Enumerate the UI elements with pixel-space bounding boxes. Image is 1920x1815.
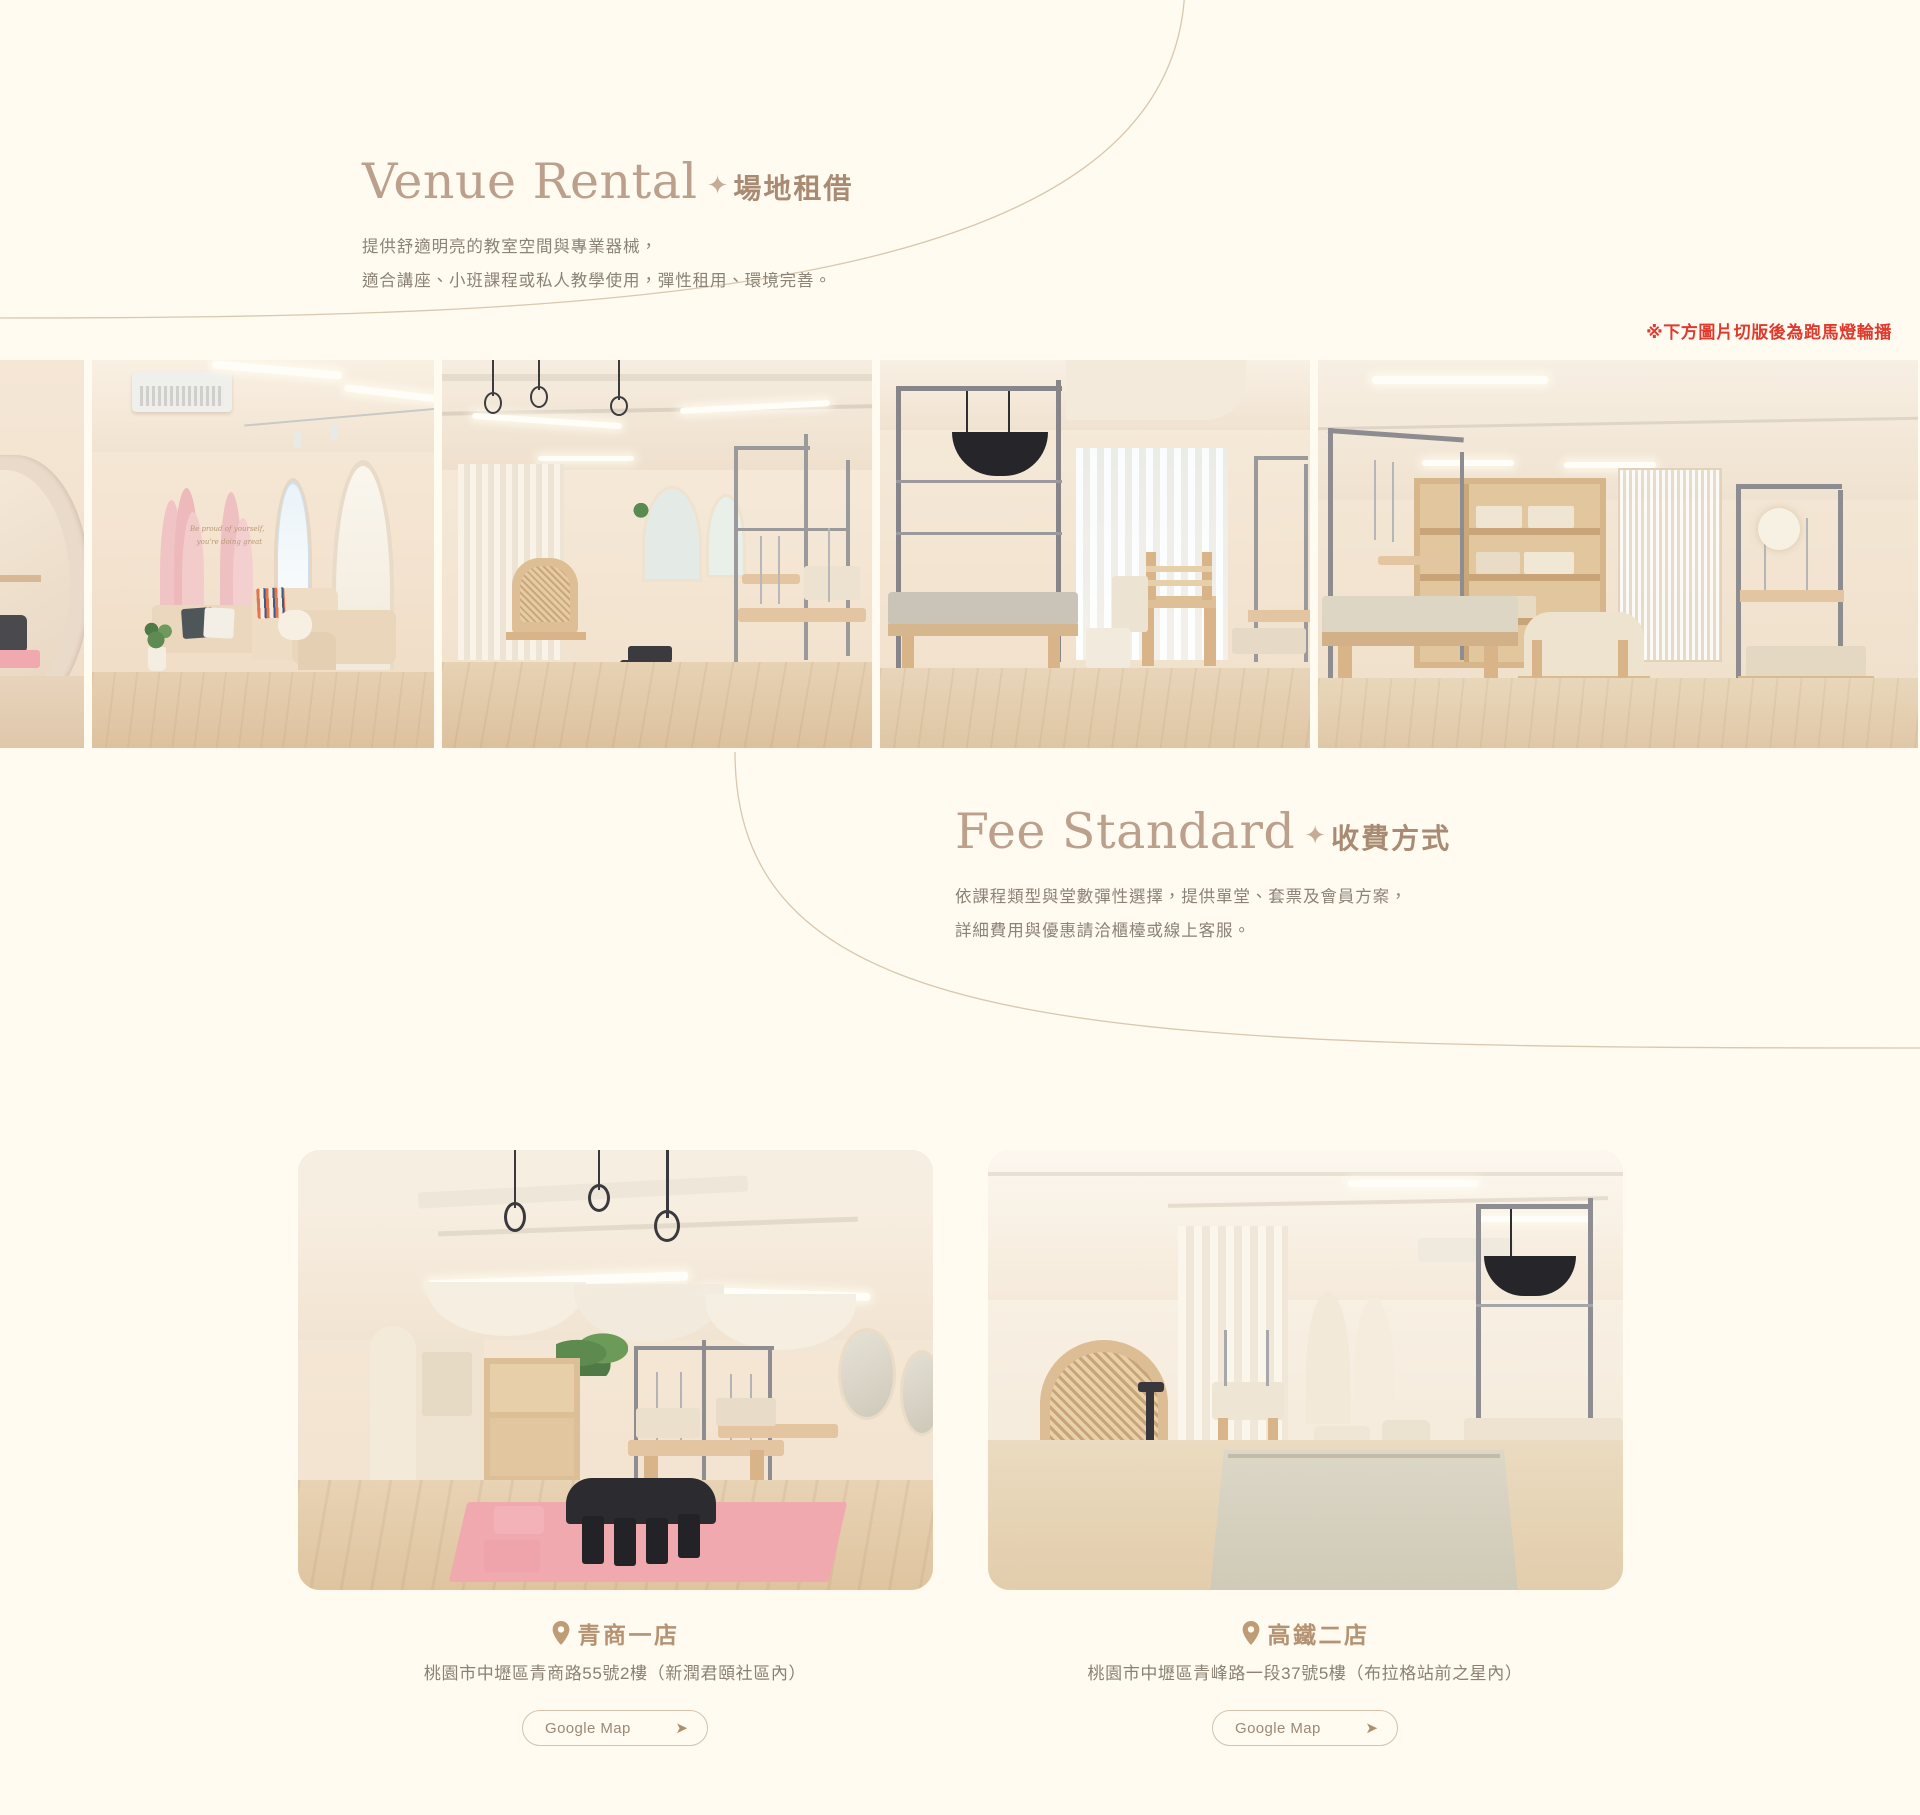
fee-standard-description-line-2: 詳細費用與優惠請洽櫃檯或線上客服。: [955, 915, 1655, 949]
location-photo: [298, 1150, 933, 1590]
google-map-button[interactable]: Google Map ➤: [522, 1710, 708, 1746]
google-map-button[interactable]: Google Map ➤: [1212, 1710, 1398, 1746]
map-pin-icon: [1241, 1621, 1261, 1645]
location-card: 高鐵二店 桃園市中壢區青峰路一段37號5樓（布拉格站前之星內） Google M…: [988, 1150, 1623, 1770]
fee-standard-heading-en: Fee Standard: [955, 805, 1295, 859]
venue-rental-heading-zh: 場地租借: [733, 167, 853, 207]
google-map-button-label: Google Map: [545, 1720, 631, 1737]
page-root: Venue Rental ✦ 場地租借 提供舒適明亮的教室空間與專業器械， 適合…: [0, 0, 1920, 1815]
venue-rental-section: Venue Rental ✦ 場地租借 提供舒適明亮的教室空間與專業器械， 適合…: [0, 0, 1920, 360]
fee-standard-heading: Fee Standard ✦ 收費方式: [955, 805, 1655, 859]
gallery-item[interactable]: [442, 360, 872, 748]
venue-gallery-carousel[interactable]: Be proud of yourself, you're doing great: [0, 360, 1920, 748]
location-name: 高鐵二店: [1241, 1616, 1370, 1650]
location-address: 桃園市中壢區青峰路一段37號5樓（布拉格站前之星內）: [1088, 1659, 1523, 1684]
gallery-item[interactable]: [880, 360, 1310, 748]
venue-rental-description-line-2: 適合講座、小班課程或私人教學使用，彈性租用、環境完善。: [362, 265, 1122, 299]
location-photo: [988, 1150, 1623, 1590]
arrow-right-icon: ➤: [675, 1721, 688, 1736]
sparkle-icon: ✦: [1304, 820, 1326, 851]
sparkle-icon: ✦: [707, 170, 729, 201]
venue-rental-heading: Venue Rental ✦ 場地租借: [362, 155, 1122, 209]
location-name-text: 高鐵二店: [1268, 1616, 1370, 1650]
venue-rental-description-line-1: 提供舒適明亮的教室空間與專業器械，: [362, 231, 1122, 265]
map-pin-icon: [551, 1621, 571, 1645]
arrow-right-icon: ➤: [1365, 1721, 1378, 1736]
google-map-button-label: Google Map: [1235, 1720, 1321, 1737]
venue-rental-heading-en: Venue Rental: [362, 155, 698, 209]
gallery-item[interactable]: Be proud of yourself, you're doing great: [92, 360, 434, 748]
gallery-item[interactable]: [1318, 360, 1918, 748]
location-cards: 青商一店 桃園市中壢區青商路55號2樓（新潤君頤社區內） Google Map …: [0, 1150, 1920, 1770]
gallery-item[interactable]: [0, 360, 84, 748]
fee-standard-description-line-1: 依課程類型與堂數彈性選擇，提供單堂、套票及會員方案，: [955, 881, 1655, 915]
fee-standard-heading-zh: 收費方式: [1331, 817, 1451, 857]
location-name: 青商一店: [551, 1616, 680, 1650]
carousel-notice: ※下方圖片切版後為跑馬燈輪播: [1646, 318, 1892, 343]
fee-standard-description: 依課程類型與堂數彈性選擇，提供單堂、套票及會員方案， 詳細費用與優惠請洽櫃檯或線…: [955, 881, 1655, 949]
fee-standard-section: Fee Standard ✦ 收費方式 依課程類型與堂數彈性選擇，提供單堂、套票…: [0, 760, 1920, 1060]
location-name-text: 青商一店: [578, 1616, 680, 1650]
location-address: 桃園市中壢區青商路55號2樓（新潤君頤社區內）: [424, 1659, 806, 1684]
location-card: 青商一店 桃園市中壢區青商路55號2樓（新潤君頤社區內） Google Map …: [298, 1150, 933, 1770]
venue-rental-description: 提供舒適明亮的教室空間與專業器械， 適合講座、小班課程或私人教學使用，彈性租用、…: [362, 231, 1122, 299]
